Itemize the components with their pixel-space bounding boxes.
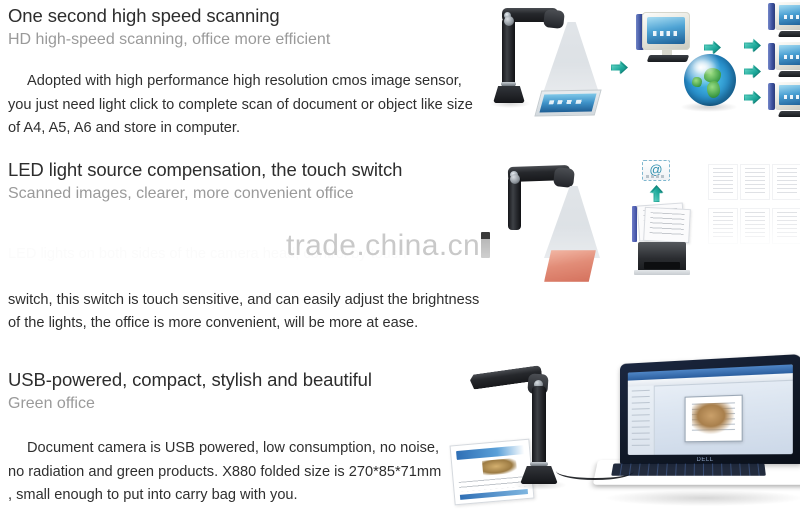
mini-tower [768,43,775,70]
section-3-body-text: Document camera is USB powered, low cons… [8,440,441,503]
globe-landmass [692,77,701,87]
section-2-title: LED light source compensation, the touch… [8,158,498,181]
monitor-stand [647,55,690,62]
section-1-body: Adopted with high performance high resol… [8,70,488,141]
mail-at-icon: @ [642,160,670,181]
laptop-lid [620,354,800,464]
document-thumbnail [740,164,770,200]
globe-landmass [707,81,721,98]
scanner-collar [501,82,516,86]
mail-icon-lines [646,175,666,178]
arrow-right-icon-5 [744,90,761,105]
scanner-tray [634,270,690,275]
section-2-body: switch, this switch is touch sensitive, … [8,289,488,336]
feature-section-scanning: One second high speed scanning HD high-s… [0,0,800,150]
arrow-right-icon-4 [744,64,761,79]
mini-tower [768,3,775,30]
monitor-stack-item-3 [768,82,800,118]
window-sidebar [628,386,655,455]
section-2-subtitle: Scanned images, clearer, more convenient… [8,183,498,205]
scanner-slot [644,262,680,269]
mini-screen [779,45,800,65]
document-lines [649,212,684,238]
laptop-shadow [606,490,800,506]
section-2-artwork: @ [486,150,800,350]
laptop-screen [628,364,793,455]
document-sheet-front [643,207,691,243]
monitor-screen [647,17,685,44]
scanner-post [508,176,521,230]
monitor-stack-item-1 [768,2,800,38]
section-1-artwork [486,0,800,150]
mini-screen [779,5,800,25]
scanner-joint [510,174,520,184]
scanner-shadow [514,480,566,490]
laptop-screen-scan-preview [685,395,743,443]
scanner-shadow [490,99,530,108]
mini-stand [778,111,800,117]
section-1-title: One second high speed scanning [8,4,498,27]
section-1-body-text: Adopted with high performance high resol… [8,73,473,136]
globe-icon [684,54,736,106]
section-1-text-column: One second high speed scanning HD high-s… [8,4,498,141]
mini-stand [778,31,800,37]
laptop-brand-label: DELL [694,457,716,463]
section-2-faded-line: LED lights on both sides of the camera h… [8,243,488,267]
section-3-text-column: USB-powered, compact, stylish and beauti… [8,368,498,508]
mini-screen [779,85,800,105]
feature-section-led: LED light source compensation, the touch… [0,150,800,350]
section-3-title: USB-powered, compact, stylish and beauti… [8,368,498,391]
mini-stand [778,71,800,77]
preview-image [539,94,596,113]
scanner-collar [530,462,548,466]
laptop-touchpad [660,477,698,482]
laptop-keyboard [611,463,766,475]
scanner-camera-head [543,9,565,29]
feature-section-usb: USB-powered, compact, stylish and beauti… [0,350,800,526]
mini-tower [768,83,775,110]
desktop-computer [636,12,696,64]
section-3-subtitle: Green office [8,393,498,415]
section-3-body: Document camera is USB powered, low cons… [8,437,448,508]
section-2-text-column: LED light source compensation, the touch… [8,158,498,336]
globe-shadow [680,102,738,112]
scanner-camera-head [553,167,575,188]
arrow-up-icon [649,185,664,202]
document-thumbnail [772,164,800,200]
section-1-subtitle: HD high-speed scanning, office more effi… [8,29,498,51]
globe-highlight [692,59,717,75]
scanner-joint [504,16,514,26]
section-3-artwork: DELL [440,350,800,526]
product-feature-page: One second high speed scanning HD high-s… [0,0,800,526]
scanner-post [532,386,546,468]
laptop-base [593,460,800,485]
scanner-post [502,18,515,90]
arrow-right-icon-2 [704,40,721,55]
arrow-right-icon-1 [611,60,628,75]
laptop-computer: DELL [598,364,800,508]
thumbnail-fade-mask [700,212,800,270]
scanned-document-preview [534,89,601,116]
monitor-stack-item-2 [768,42,800,78]
illuminated-document [544,250,596,282]
arrow-right-icon-3 [744,38,761,53]
document-thumbnail [708,164,738,200]
